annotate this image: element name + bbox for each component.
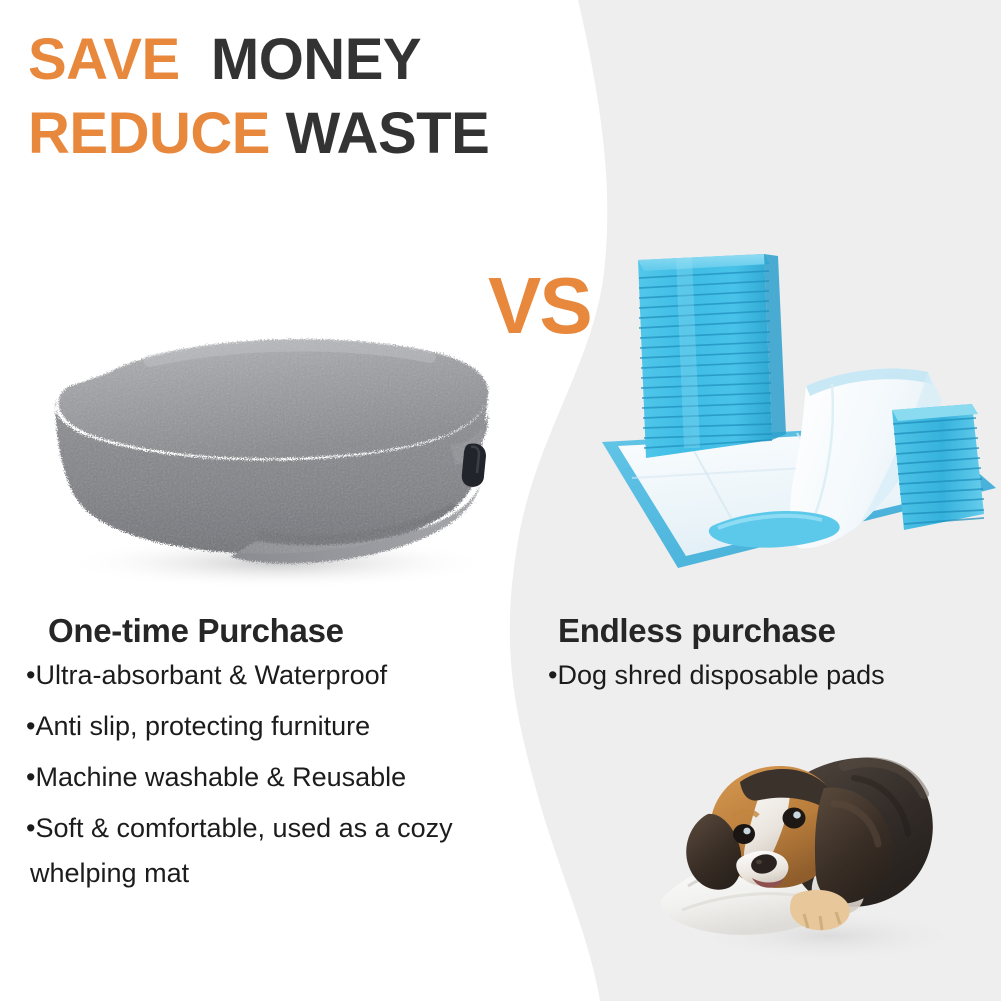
list-item: •Dog shred disposable pads bbox=[548, 662, 978, 689]
list-item: •Ultra-absorbant & Waterproof bbox=[26, 662, 531, 689]
right-column-title: Endless purchase bbox=[548, 612, 978, 650]
tall-pad-stack bbox=[638, 254, 786, 458]
product-image-fleece-mat bbox=[20, 295, 530, 600]
headline-line-2: REDUCE WASTE bbox=[28, 106, 489, 162]
left-column-bullets: •Ultra-absorbant & Waterproof •Anti slip… bbox=[26, 662, 531, 842]
right-column-bullets: •Dog shred disposable pads bbox=[548, 662, 978, 689]
headline-line-1: SAVE MONEY bbox=[28, 32, 489, 88]
versus-label: VS bbox=[488, 266, 591, 346]
list-item: •Soft & comfortable, used as a cozy bbox=[26, 815, 531, 842]
product-image-puppy-shredding-pad bbox=[648, 718, 993, 980]
headline-reduce: REDUCE bbox=[28, 101, 270, 166]
bullet-text: Machine washable & Reusable bbox=[35, 762, 406, 792]
short-pad-stack bbox=[892, 404, 984, 530]
headline-money: MONEY bbox=[211, 27, 421, 92]
left-column-continuation: whelping mat bbox=[26, 860, 531, 887]
headline-waste: WASTE bbox=[286, 101, 490, 166]
bullet-text: Dog shred disposable pads bbox=[557, 660, 884, 690]
bullet-text: Ultra-absorbant & Waterproof bbox=[35, 660, 387, 690]
bullet-text: Soft & comfortable, used as a cozy bbox=[35, 813, 452, 843]
left-column-text: One-time Purchase •Ultra-absorbant & Wat… bbox=[26, 612, 531, 887]
right-column-text: Endless purchase •Dog shred disposable p… bbox=[548, 612, 978, 713]
bullet-text: Anti slip, protecting furniture bbox=[35, 711, 370, 741]
list-item: •Machine washable & Reusable bbox=[26, 764, 531, 791]
headline-save: SAVE bbox=[28, 27, 180, 92]
list-item: •Anti slip, protecting furniture bbox=[26, 713, 531, 740]
infographic-canvas: SAVE MONEY REDUCE WASTE VS bbox=[0, 0, 1001, 1001]
product-image-disposable-pads bbox=[592, 238, 1001, 588]
left-column-title: One-time Purchase bbox=[26, 612, 531, 650]
mat-edge-tab bbox=[462, 444, 486, 487]
headline-block: SAVE MONEY REDUCE WASTE bbox=[28, 32, 489, 161]
